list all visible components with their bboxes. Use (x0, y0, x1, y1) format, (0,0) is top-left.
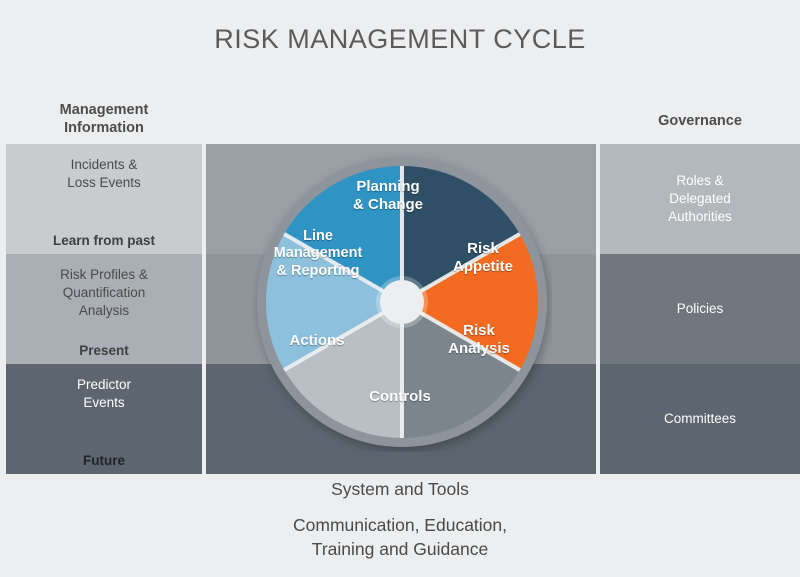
management-band-incidents-text: Incidents &Loss Events (6, 144, 202, 192)
governance-band-committees: Committees (600, 364, 800, 474)
governance-band-policies: Policies (600, 254, 800, 364)
wheel-hub (380, 280, 424, 324)
management-band-predictor-events-sub: Future (6, 453, 202, 468)
risk-management-wheel (252, 152, 552, 452)
management-band-risk-profiles-text: Risk Profiles &QuantificationAnalysis (6, 254, 202, 321)
caption-communication-education: Communication, Education,Training and Gu… (160, 514, 640, 561)
caption-system-and-tools: System and Tools (160, 478, 640, 502)
governance-band-policies-text: Policies (677, 300, 724, 318)
management-band-risk-profiles-sub: Present (6, 343, 202, 358)
governance-heading: Governance (600, 112, 800, 130)
page-title: RISK MANAGEMENT CYCLE (0, 24, 800, 55)
management-band-incidents: Incidents &Loss Events Learn from past (6, 144, 202, 254)
management-band-incidents-sub: Learn from past (6, 233, 202, 248)
management-band-predictor-events: PredictorEvents Future (6, 364, 202, 474)
management-band-predictor-events-text: PredictorEvents (6, 364, 202, 412)
management-information-heading: ManagementInformation (6, 101, 202, 137)
governance-band-roles-text: Roles &DelegatedAuthorities (668, 172, 732, 227)
management-band-risk-profiles: Risk Profiles &QuantificationAnalysis Pr… (6, 254, 202, 364)
governance-band-roles: Roles &DelegatedAuthorities (600, 144, 800, 254)
governance-band-committees-text: Committees (664, 410, 736, 428)
